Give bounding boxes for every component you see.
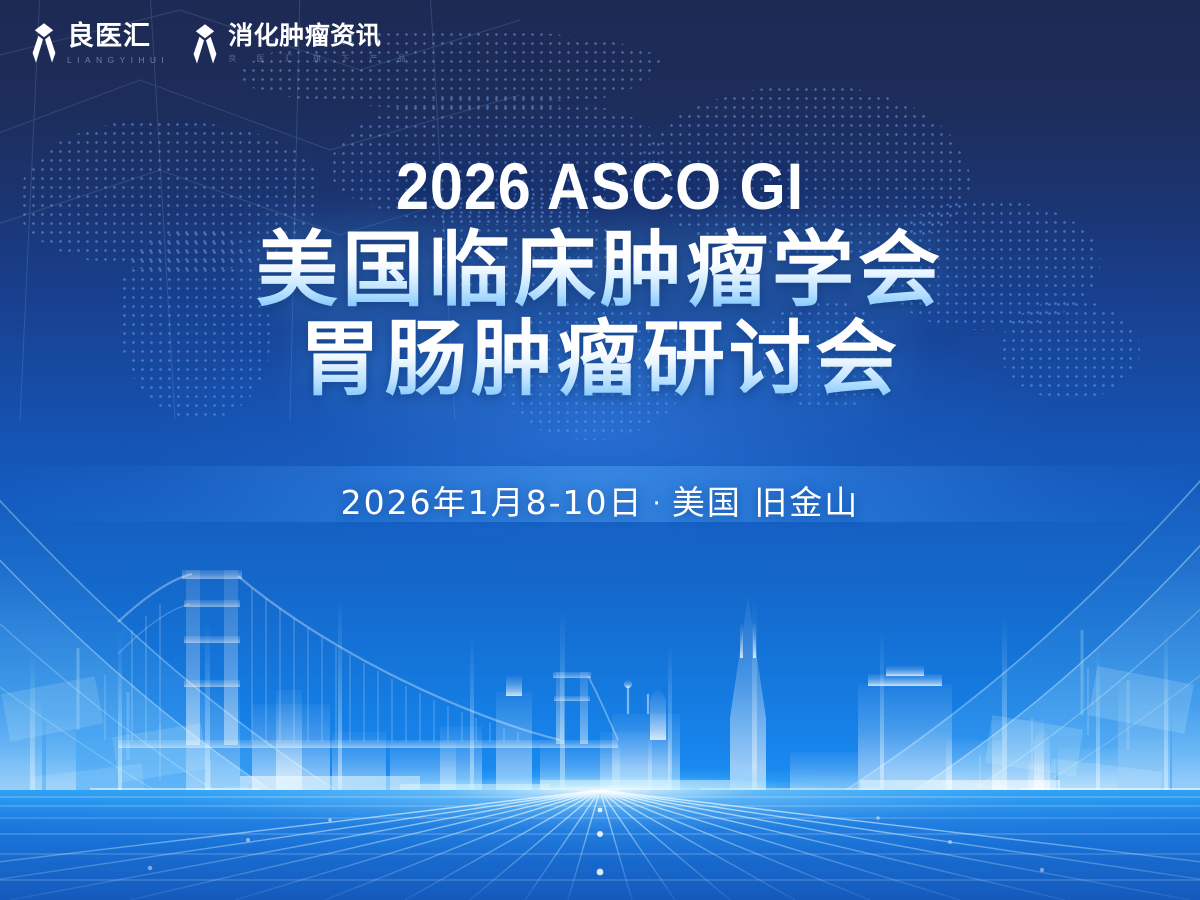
brand-primary-romanized: LIANGYIHUI bbox=[67, 54, 169, 66]
event-kicker: 2026 ASCO GI bbox=[60, 148, 1140, 224]
event-title-line-2: 胃肠肿瘤研讨会 bbox=[0, 313, 1200, 406]
brand-secondary-subtitle: 良 医 汇 旗 下 产 品 bbox=[228, 53, 414, 65]
event-date: 2026年1月8-10日 bbox=[341, 483, 644, 522]
brand-logo-bar: 良医汇 LIANGYIHUI 消化肿瘤资讯 良 医 汇 旗 下 产 品 bbox=[30, 21, 415, 66]
perspective-grid-floor bbox=[0, 790, 1200, 900]
brand-secondary-name: 消化肿瘤资讯 bbox=[228, 22, 414, 50]
ribbon-icon bbox=[30, 22, 58, 64]
headline-block: 2026 ASCO GI 美国临床肿瘤学会 胃肠肿瘤研讨会 bbox=[0, 148, 1200, 406]
brand-secondary[interactable]: 消化肿瘤资讯 良 医 汇 旗 下 产 品 bbox=[191, 22, 414, 65]
event-title-line-1: 美国临床肿瘤学会 bbox=[0, 224, 1200, 317]
city-skyline-illustration bbox=[0, 504, 1200, 804]
event-meta-line: 2026年1月8-10日·美国 旧金山 bbox=[0, 476, 1200, 524]
poster-canvas: 良医汇 LIANGYIHUI 消化肿瘤资讯 良 医 汇 旗 下 产 品 2026… bbox=[0, 0, 1200, 900]
horizon-glow bbox=[0, 756, 1200, 816]
ribbon-icon bbox=[191, 23, 219, 65]
meta-separator: · bbox=[644, 489, 672, 519]
brand-primary-name: 良医汇 bbox=[67, 21, 169, 51]
horizon-line bbox=[0, 797, 1200, 800]
event-location: 美国 旧金山 bbox=[672, 483, 860, 522]
brand-primary[interactable]: 良医汇 LIANGYIHUI bbox=[30, 21, 169, 66]
